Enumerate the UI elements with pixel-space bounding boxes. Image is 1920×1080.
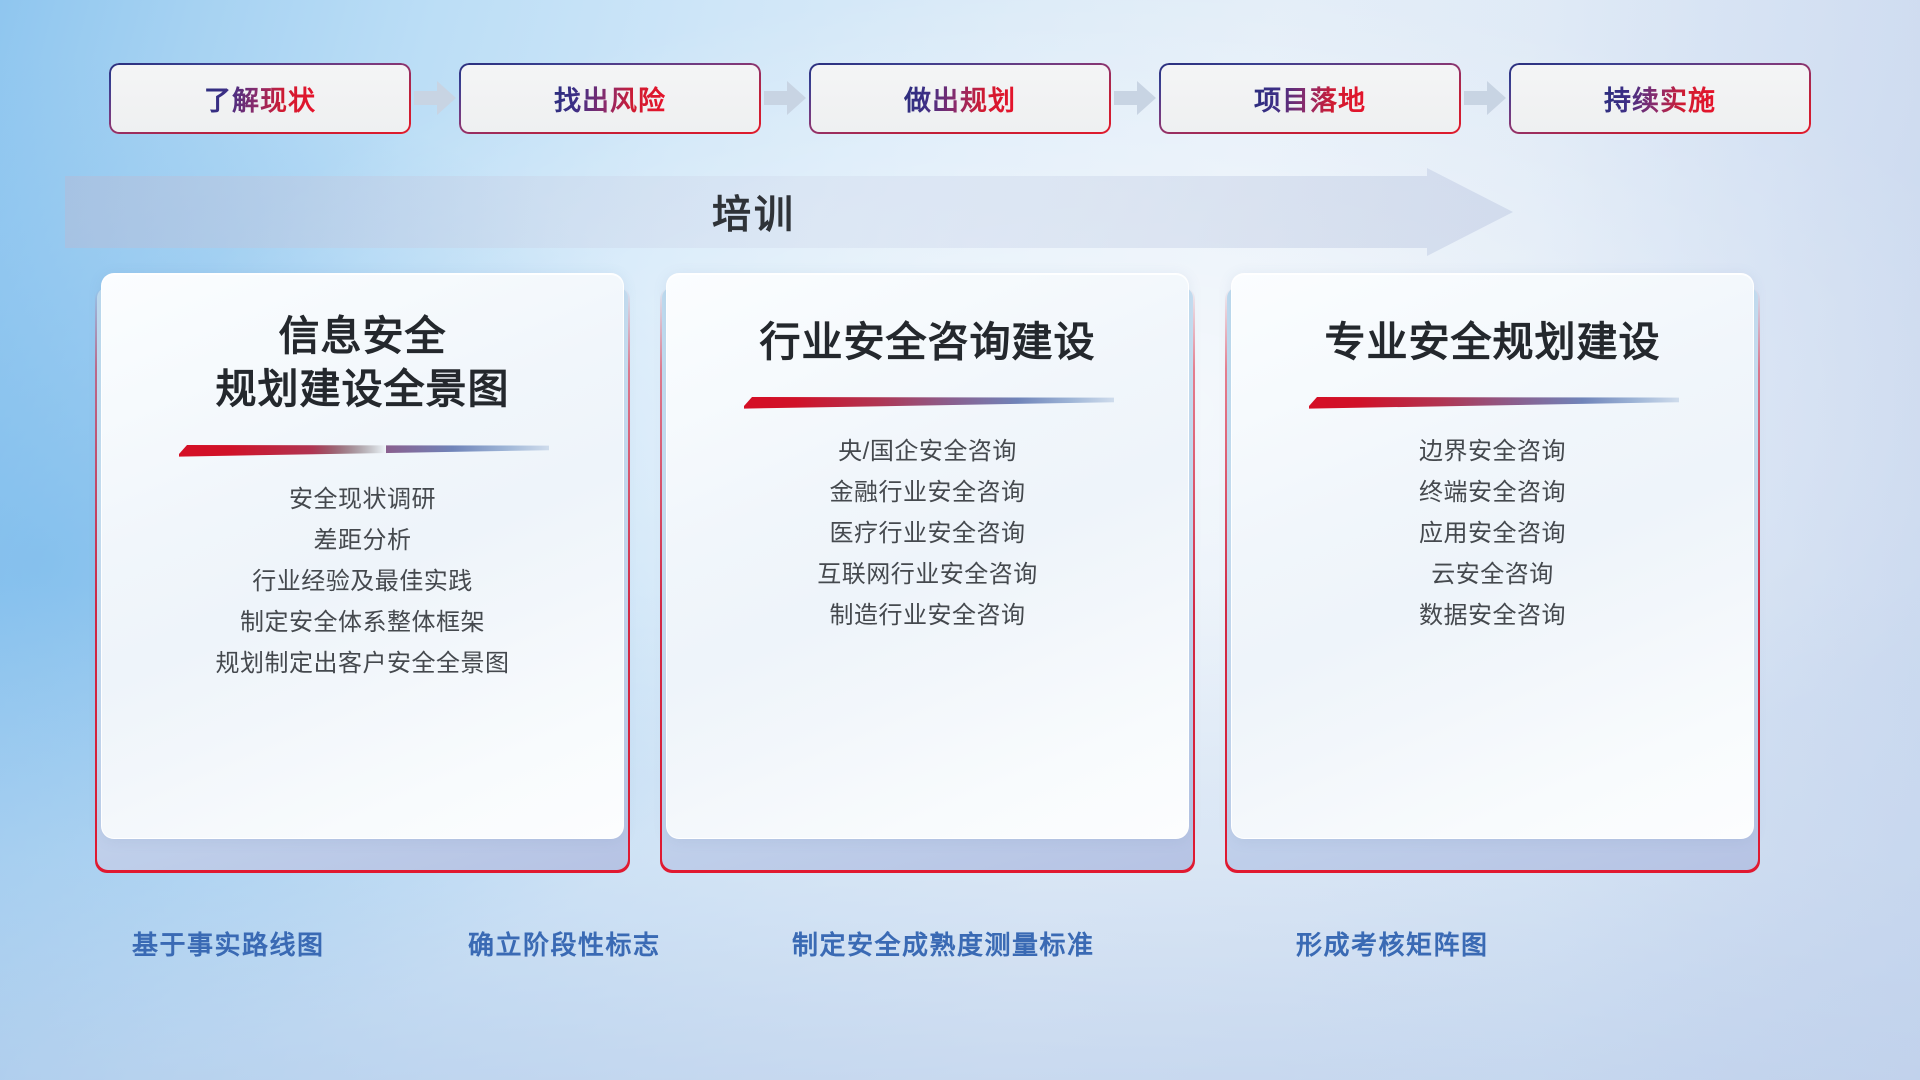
card-title: 行业安全咨询建设 <box>760 316 1096 369</box>
list-item: 应用安全咨询 <box>1419 513 1566 554</box>
card-title: 专业安全规划建设 <box>1325 316 1661 369</box>
card-divider-icon <box>1307 393 1679 413</box>
step-label: 了解现状 <box>204 79 316 118</box>
arrow-right-icon <box>761 62 809 134</box>
card-divider-icon <box>177 441 549 461</box>
list-item: 互联网行业安全咨询 <box>817 554 1038 595</box>
list-item: 制定安全体系整体框架 <box>240 602 485 643</box>
card-surface: 专业安全规划建设 <box>1231 273 1754 839</box>
arrow-right-icon <box>1461 62 1509 134</box>
list-item: 央/国企安全咨询 <box>838 431 1017 472</box>
footer-label-row: 基于事实路线图 确立阶段性标志 制定安全成熟度测量标准 形成考核矩阵图 <box>0 925 1920 975</box>
list-item: 安全现状调研 <box>289 479 436 520</box>
list-item: 边界安全咨询 <box>1419 431 1566 472</box>
training-banner: 培训 <box>65 168 1513 256</box>
list-item: 制造行业安全咨询 <box>830 595 1026 636</box>
list-item: 终端安全咨询 <box>1419 472 1566 513</box>
step-label: 项目落地 <box>1254 79 1366 118</box>
step-label: 持续实施 <box>1604 79 1716 118</box>
card-divider-icon <box>742 393 1114 413</box>
card-title: 信息安全 规划建设全景图 <box>216 310 510 417</box>
card-item-list: 边界安全咨询 终端安全咨询 应用安全咨询 云安全咨询 数据安全咨询 <box>1232 431 1753 636</box>
list-item: 云安全咨询 <box>1431 554 1554 595</box>
step-box-5[interactable]: 持续实施 <box>1509 63 1811 134</box>
slide-stage: 了解现状 找出风险 做出规划 项目落地 <box>0 0 1920 1080</box>
card-surface: 行业安全咨询建设 <box>666 273 1189 839</box>
arrow-right-icon <box>1111 62 1159 134</box>
card-surface: 信息安全 规划建设全景图 <box>101 273 624 839</box>
list-item: 行业经验及最佳实践 <box>252 561 473 602</box>
list-item: 数据安全咨询 <box>1419 595 1566 636</box>
list-item: 差距分析 <box>314 520 412 561</box>
list-item: 规划制定出客户安全全景图 <box>216 643 510 684</box>
list-item: 医疗行业安全咨询 <box>830 513 1026 554</box>
card-item-list: 央/国企安全咨询 金融行业安全咨询 医疗行业安全咨询 互联网行业安全咨询 制造行… <box>667 431 1188 636</box>
process-step-row: 了解现状 找出风险 做出规划 项目落地 <box>0 62 1920 134</box>
footer-label: 形成考核矩阵图 <box>1296 925 1489 962</box>
step-box-4[interactable]: 项目落地 <box>1159 63 1461 134</box>
footer-label: 基于事实路线图 <box>132 925 325 962</box>
footer-label: 确立阶段性标志 <box>468 925 661 962</box>
step-label: 做出规划 <box>904 79 1016 118</box>
step-box-1[interactable]: 了解现状 <box>109 63 411 134</box>
arrow-right-icon <box>411 62 459 134</box>
banner-title: 培训 <box>65 168 1513 256</box>
card-row: 信息安全 规划建设全景图 <box>0 273 1920 873</box>
step-label: 找出风险 <box>554 79 666 118</box>
step-box-3[interactable]: 做出规划 <box>809 63 1111 134</box>
footer-label: 制定安全成熟度测量标准 <box>792 925 1095 962</box>
card-item-list: 安全现状调研 差距分析 行业经验及最佳实践 制定安全体系整体框架 规划制定出客户… <box>102 479 623 684</box>
list-item: 金融行业安全咨询 <box>830 472 1026 513</box>
step-box-2[interactable]: 找出风险 <box>459 63 761 134</box>
